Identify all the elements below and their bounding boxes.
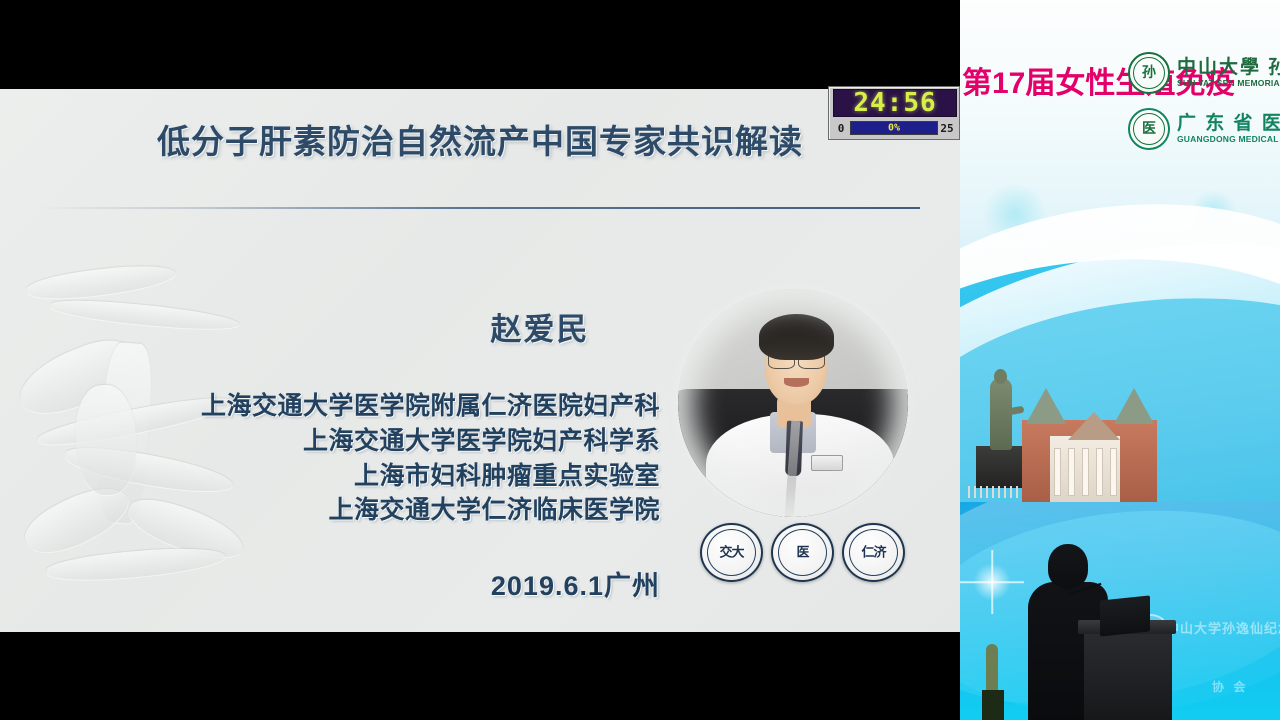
speaker-portrait <box>678 289 908 517</box>
timer-max-label: 25 <box>938 122 956 135</box>
timer-display: 24:56 <box>833 89 957 117</box>
live-video-feed[interactable]: 中山大学孙逸仙纪念 协 会 <box>960 502 1280 720</box>
presentation-viewer: 低分子肝素防治自然流产中国专家共识解读 赵爱民 上海交通大学医学院附属仁济医院妇… <box>0 0 1280 720</box>
organizer-name-cn: 中山大學 孙 <box>1177 58 1280 78</box>
event-date: 2019.6.1广州 <box>60 564 660 603</box>
organizer-item: 医 广 东 省 医 GUANGDONG MEDICAL DO <box>1128 108 1280 150</box>
organizer-logos: 孙 中山大學 孙 SUN YAT-SEN MEMORIAL HOS 医 广 东 … <box>1128 52 1280 164</box>
backdrop-text-secondary: 协 会 <box>1212 678 1248 695</box>
sparkle-icon <box>970 560 1014 604</box>
countdown-timer-widget[interactable]: 24:56 0 0% 25 <box>828 86 960 140</box>
podium <box>1084 630 1172 720</box>
organizer-name-en: GUANGDONG MEDICAL DO <box>1177 134 1280 144</box>
logo-seal: 医 <box>771 523 834 582</box>
logo-seal: 仁济 <box>842 523 905 582</box>
timer-progress-row: 0 0% 25 <box>832 119 956 137</box>
seal-mark: 医 <box>1130 118 1168 138</box>
timer-percent-label: 0% <box>851 123 937 134</box>
affiliation-line: 上海交通大学仁济临床医学院 <box>60 493 660 528</box>
affiliation-line: 上海市妇科肿瘤重点实验室 <box>60 459 660 494</box>
side-column: 第17届女性生殖免疫 孙 中山大學 孙 SUN YAT-SEN MEMORIAL… <box>960 0 1280 720</box>
affiliation-list: 上海交通大学医学院附属仁济医院妇产科 上海交通大学医学院妇产科学系 上海市妇科肿… <box>60 389 660 528</box>
letterbox-top <box>0 0 960 89</box>
organizer-name-en: SUN YAT-SEN MEMORIAL HOS <box>1177 78 1280 88</box>
backdrop-text: 中山大学孙逸仙纪念 <box>1166 618 1280 637</box>
organizer-name-cn: 广 东 省 医 <box>1177 114 1280 134</box>
guangdong-medical-seal-icon: 医 <box>1128 108 1170 150</box>
title-divider <box>36 207 920 209</box>
seal-mark: 孙 <box>1130 62 1168 82</box>
laptop-icon <box>1100 595 1150 636</box>
slide-title: 低分子肝素防治自然流产中国专家共识解读 <box>0 115 960 163</box>
timer-digits: 24:56 <box>834 89 956 117</box>
logo-glyph: 医 <box>773 542 832 561</box>
slide-content: 低分子肝素防治自然流产中国专家共识解读 赵爱民 上海交通大学医学院附属仁济医院妇… <box>0 89 960 632</box>
organizer-item: 孙 中山大學 孙 SUN YAT-SEN MEMORIAL HOS <box>1128 52 1280 94</box>
conference-banner: 第17届女性生殖免疫 孙 中山大學 孙 SUN YAT-SEN MEMORIAL… <box>960 0 1280 502</box>
institution-logo-row: 交大 医 仁济 <box>700 523 905 581</box>
logo-seal: 交大 <box>700 523 763 582</box>
video-statue <box>982 644 1004 720</box>
letterbox-bottom <box>0 632 960 720</box>
logo-glyph: 交大 <box>702 542 761 561</box>
speaker-name: 赵爱民 <box>400 304 680 349</box>
sun-yat-sen-seal-icon: 孙 <box>1128 52 1170 94</box>
logo-glyph: 仁济 <box>844 542 903 561</box>
affiliation-line: 上海交通大学医学院附属仁济医院妇产科 <box>60 389 660 424</box>
timer-min-label: 0 <box>832 122 850 135</box>
slide-pane[interactable]: 低分子肝素防治自然流产中国专家共识解读 赵爱民 上海交通大学医学院附属仁济医院妇… <box>0 0 960 720</box>
affiliation-line: 上海交通大学医学院妇产科学系 <box>60 424 660 459</box>
timer-progress-track[interactable]: 0% <box>850 121 938 135</box>
memorial-hospital-building <box>1022 384 1157 502</box>
